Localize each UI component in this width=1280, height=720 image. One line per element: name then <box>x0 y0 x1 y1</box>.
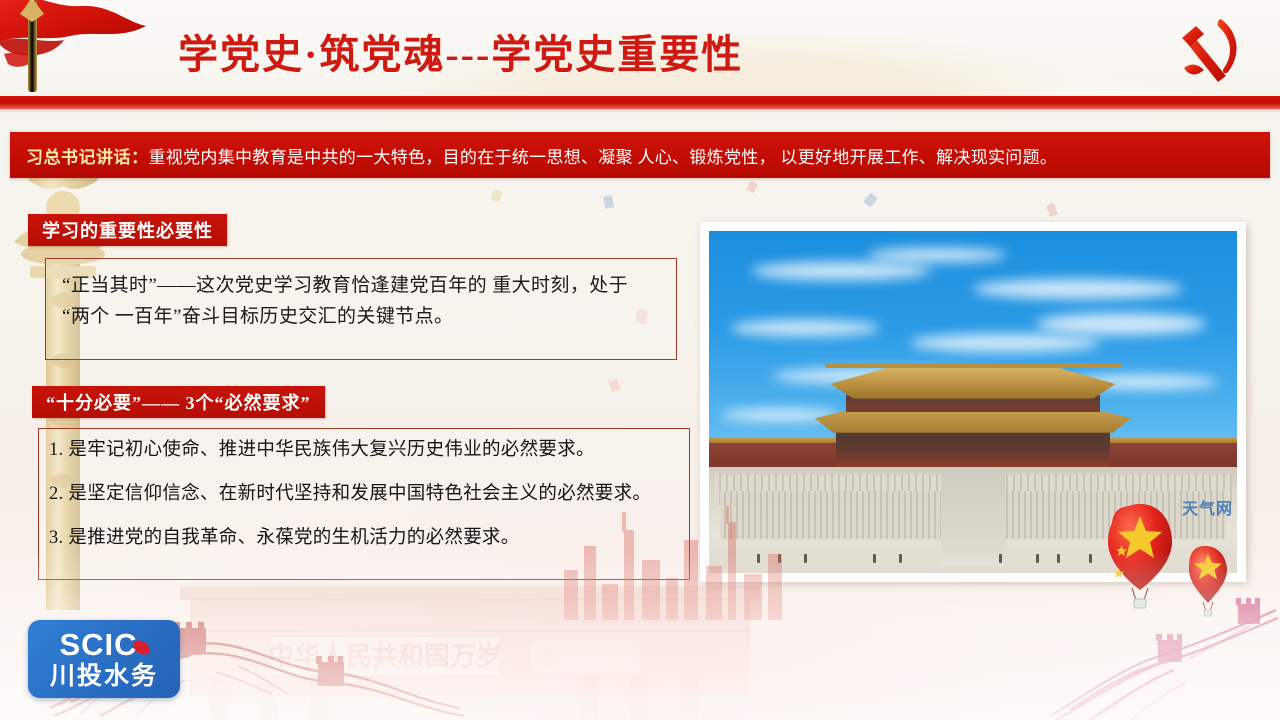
page-title: 学党史·筑党魂---学党史重要性 <box>178 22 743 80</box>
section-tag-importance: 学习的重要性必要性 <box>28 214 227 246</box>
city-skyline-icon <box>560 500 790 620</box>
cloud <box>1036 313 1206 335</box>
visitor <box>1089 554 1092 563</box>
confetti-particle <box>746 181 758 194</box>
company-logo: SCIC 川投水务 <box>28 620 180 698</box>
logo-latin-text: SCIC <box>59 629 137 660</box>
cloud <box>910 334 1100 352</box>
logo-latin-row: SCIC <box>59 629 148 660</box>
hall-roof-lower <box>815 409 1132 433</box>
visitor <box>804 554 807 563</box>
confetti-particle <box>603 195 614 209</box>
importance-line-1: “正当其时”——这次党史学习教育恰逢建党百年的 重大时刻，处于 <box>62 271 676 302</box>
quote-label: 习总书记讲话： <box>26 143 149 168</box>
cloud <box>973 279 1183 299</box>
quote-text: 重视党内集中教育是中共的一大特色，目的在于统一思想、凝聚 人心、锻炼党性， 以更… <box>149 143 1058 168</box>
quote-banner: 习总书记讲话： 重视党内集中教育是中共的一大特色，目的在于统一思想、凝聚 人心、… <box>10 132 1270 178</box>
importance-line-2: “两个 一百年”奋斗目标历史交汇的关键节点。 <box>62 302 676 333</box>
cloud <box>730 320 880 336</box>
confetti-particle <box>863 193 878 208</box>
section-tag-necessity: “十分必要”—— 3个“必然要求” <box>32 386 325 418</box>
slide-header: 学党史·筑党魂---学党史重要性 <box>0 0 1280 96</box>
red-flag-icon <box>0 0 184 96</box>
confetti-particle <box>491 189 503 202</box>
visitor <box>1036 554 1039 563</box>
party-emblem-icon <box>1176 14 1248 88</box>
logo-chinese-text: 川投水务 <box>50 664 158 689</box>
header-divider-shadow <box>0 109 1280 113</box>
roof-ridge <box>825 363 1121 368</box>
cloud <box>751 262 931 280</box>
great-wall-icon <box>1040 570 1280 720</box>
list-item: 1. 是牢记初心使命、推进中华民族伟大复兴历史伟业的必然要求。 <box>49 439 689 461</box>
visitor <box>899 554 902 563</box>
header-divider <box>0 96 1280 109</box>
confetti-particle <box>1046 203 1058 217</box>
confetti-particle <box>609 379 621 392</box>
slide-canvas: 学党史·筑党魂---学党史重要性 习总书记讲话： 重视党内集中教育是中共的一大特… <box>0 0 1280 720</box>
visitor <box>999 554 1002 563</box>
importance-content-box: “正当其时”——这次党史学习教育恰逢建党百年的 重大时刻，处于 “两个 一百年”… <box>45 258 677 360</box>
central-staircase <box>941 467 1004 566</box>
visitor <box>873 554 876 563</box>
